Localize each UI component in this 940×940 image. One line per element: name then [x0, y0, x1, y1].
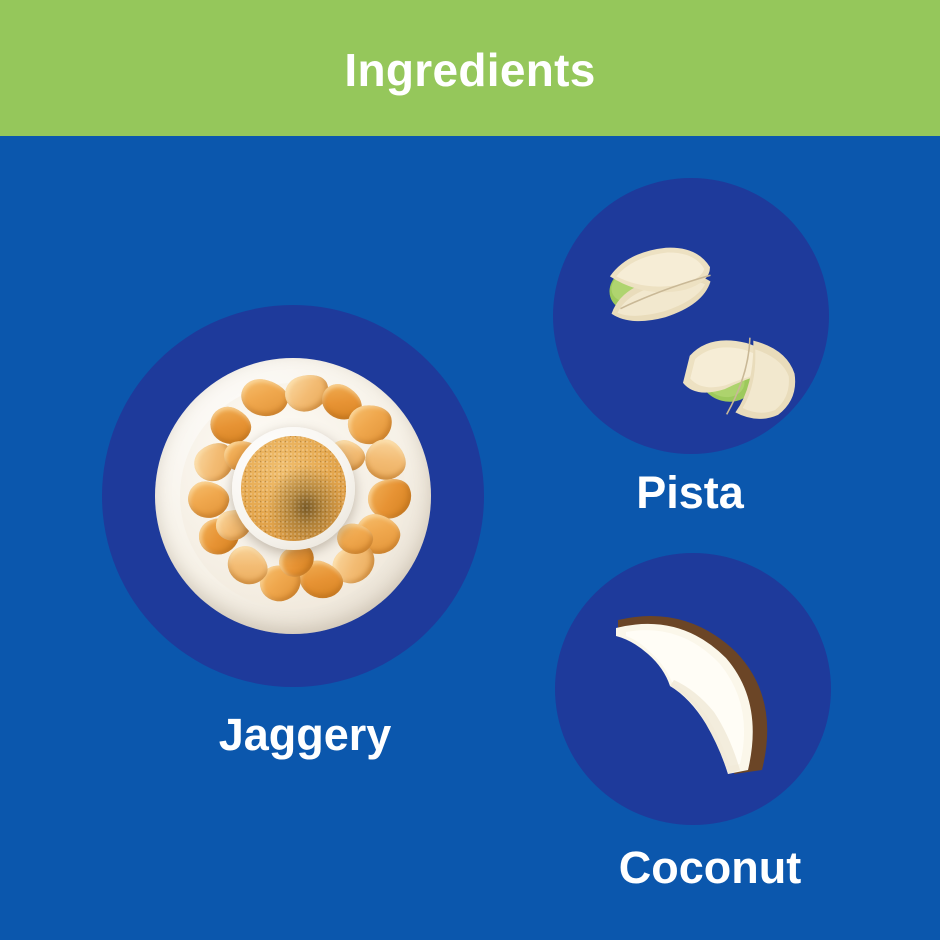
header-banner: Ingredients: [0, 0, 940, 136]
ingredients-infographic: Ingredients: [0, 0, 940, 940]
jaggery-powder: [241, 436, 345, 540]
powder-grain-texture: [241, 436, 345, 540]
coconut-label: Coconut: [520, 845, 900, 890]
pista-image: [588, 228, 798, 438]
coconut-image: [608, 598, 798, 788]
jaggery-image: [155, 358, 431, 634]
page-title: Ingredients: [344, 47, 595, 93]
pista-label: Pista: [530, 470, 850, 515]
jaggery-powder-bowl: [232, 427, 355, 550]
jaggery-label: Jaggery: [0, 712, 610, 757]
ingredients-body: Jaggery: [0, 136, 940, 940]
